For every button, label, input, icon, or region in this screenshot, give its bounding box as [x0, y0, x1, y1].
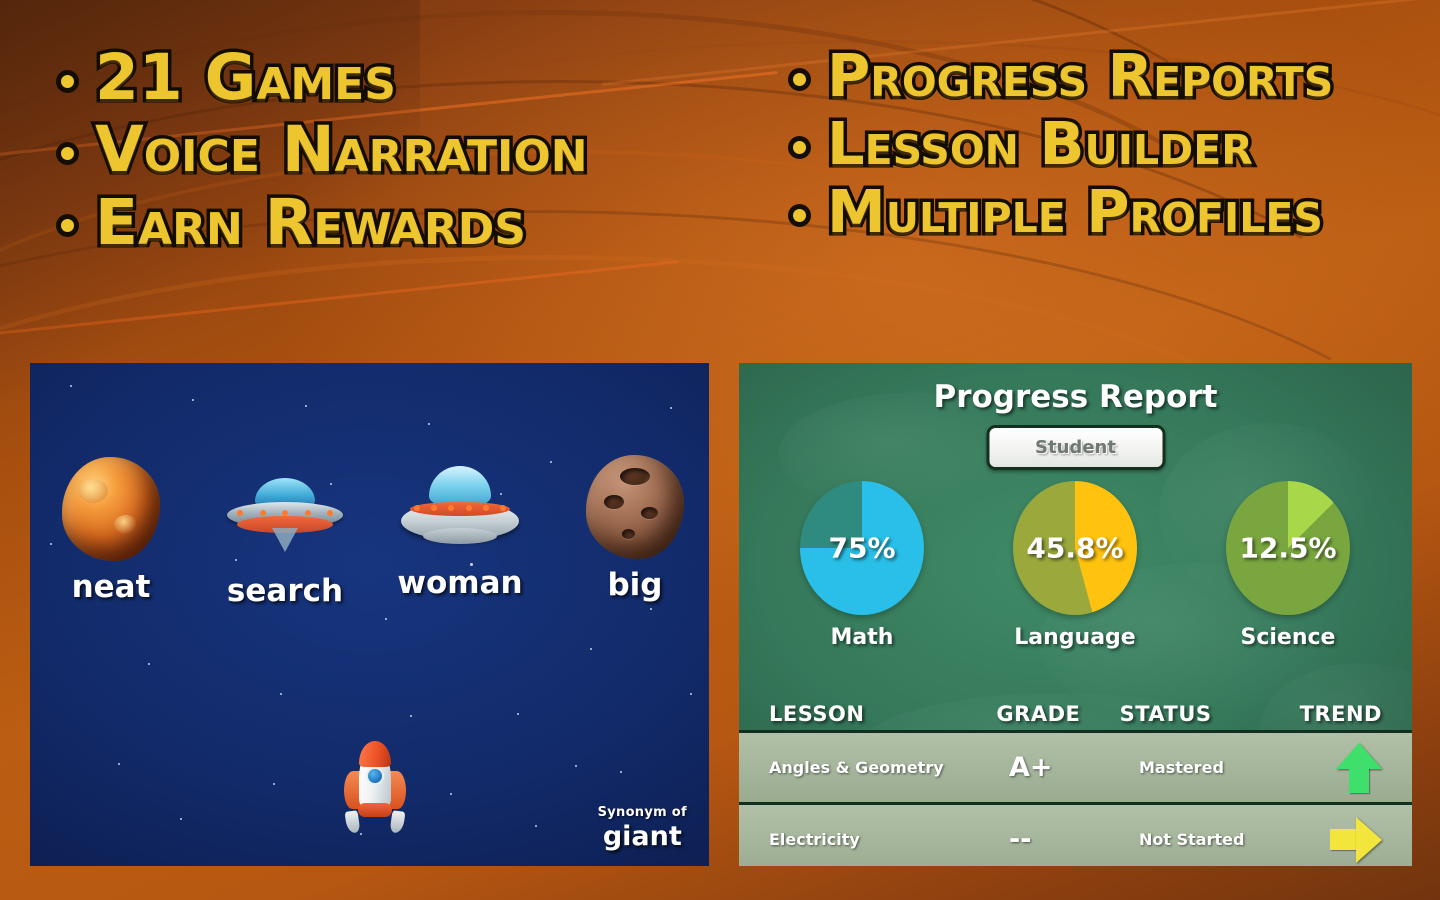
cell-status: Not Started: [1139, 830, 1329, 849]
feature-item: Multiple Profiles: [788, 182, 1418, 242]
bullet-icon: [788, 136, 811, 159]
feature-list-left: 21 Games Voice Narration Earn Rewards: [56, 46, 756, 263]
bullet-icon: [56, 142, 79, 165]
profile-selector-label: Student: [1035, 437, 1116, 458]
cell-status: Mastered: [1139, 758, 1329, 777]
feature-label: Earn Rewards: [95, 191, 526, 255]
column-header-trend: TREND: [1300, 702, 1382, 726]
feature-label: 21 Games: [95, 46, 396, 110]
asteroid-brown-icon: [560, 451, 709, 563]
bullet-icon: [788, 204, 811, 227]
cell-lesson: Electricity: [769, 830, 1009, 849]
column-header-grade: GRADE: [996, 702, 1119, 726]
arrow-up-icon: [1336, 743, 1382, 793]
table-row[interactable]: Angles & Geometry A+ Mastered: [739, 733, 1412, 805]
word-label: woman: [385, 565, 535, 601]
column-header-status: STATUS: [1120, 702, 1300, 726]
word-choice-big[interactable]: big: [560, 451, 709, 603]
hint-box: Synonym of giant: [598, 805, 687, 852]
pie-graphic: 45.8%: [1013, 481, 1137, 615]
word-choices: neat search: [30, 391, 709, 651]
cell-grade: A+: [1009, 752, 1139, 783]
word-choice-search[interactable]: search: [210, 457, 360, 609]
hint-word: giant: [598, 821, 687, 852]
game-screenshot-panel[interactable]: neat search: [30, 363, 709, 866]
feature-item: 21 Games: [56, 46, 756, 110]
rocket-icon[interactable]: [340, 741, 410, 833]
pie-chart-math[interactable]: 75% Math: [767, 481, 957, 650]
page-title: Progress Report: [739, 379, 1412, 415]
word-choice-woman[interactable]: woman: [385, 449, 535, 601]
feature-item: Progress Reports: [788, 46, 1418, 106]
lesson-table: LESSON GRADE STATUS TREND Angles & Geome…: [739, 693, 1412, 866]
hint-prefix: Synonym of: [598, 805, 687, 820]
feature-item: Earn Rewards: [56, 191, 756, 255]
pie-category-label: Language: [980, 625, 1170, 650]
feature-item: Lesson Builder: [788, 114, 1418, 174]
cell-trend: [1329, 817, 1382, 863]
column-header-lesson: LESSON: [769, 702, 996, 726]
asteroid-orange-icon: [36, 453, 186, 565]
profile-selector-button[interactable]: Student: [986, 425, 1165, 470]
feature-label: Lesson Builder: [827, 114, 1253, 174]
table-row[interactable]: Electricity -- Not Started: [739, 805, 1412, 866]
cell-lesson: Angles & Geometry: [769, 758, 1009, 777]
feature-list-right: Progress Reports Lesson Builder Multiple…: [788, 46, 1418, 251]
pie-graphic: 75%: [800, 481, 924, 615]
word-label: search: [210, 573, 360, 609]
feature-label: Multiple Profiles: [827, 182, 1323, 242]
cell-trend: [1329, 743, 1382, 793]
pie-value-label: 75%: [800, 532, 924, 565]
ufo-large-icon: [385, 449, 535, 561]
feature-item: Voice Narration: [56, 118, 756, 182]
progress-report-panel[interactable]: Progress Report Student 75% Math 45.8% L…: [739, 363, 1412, 866]
bullet-icon: [788, 68, 811, 91]
subject-pie-charts: 75% Math 45.8% Language 12.5% Science: [739, 481, 1412, 661]
pie-category-label: Math: [767, 625, 957, 650]
bullet-icon: [56, 70, 79, 93]
arrow-right-icon: [1330, 817, 1382, 863]
pie-value-label: 12.5%: [1226, 532, 1350, 565]
pie-chart-language[interactable]: 45.8% Language: [980, 481, 1170, 650]
word-label: neat: [36, 569, 186, 605]
word-choice-neat[interactable]: neat: [36, 453, 186, 605]
table-header-row: LESSON GRADE STATUS TREND: [739, 693, 1412, 733]
pie-category-label: Science: [1193, 625, 1383, 650]
pie-chart-science[interactable]: 12.5% Science: [1193, 481, 1383, 650]
word-label: big: [560, 567, 709, 603]
feature-label: Voice Narration: [95, 118, 588, 182]
feature-label: Progress Reports: [827, 46, 1333, 106]
ufo-small-icon: [210, 457, 360, 569]
pie-graphic: 12.5%: [1226, 481, 1350, 615]
pie-value-label: 45.8%: [1013, 532, 1137, 565]
bullet-icon: [56, 214, 79, 237]
cell-grade: --: [1009, 824, 1139, 855]
